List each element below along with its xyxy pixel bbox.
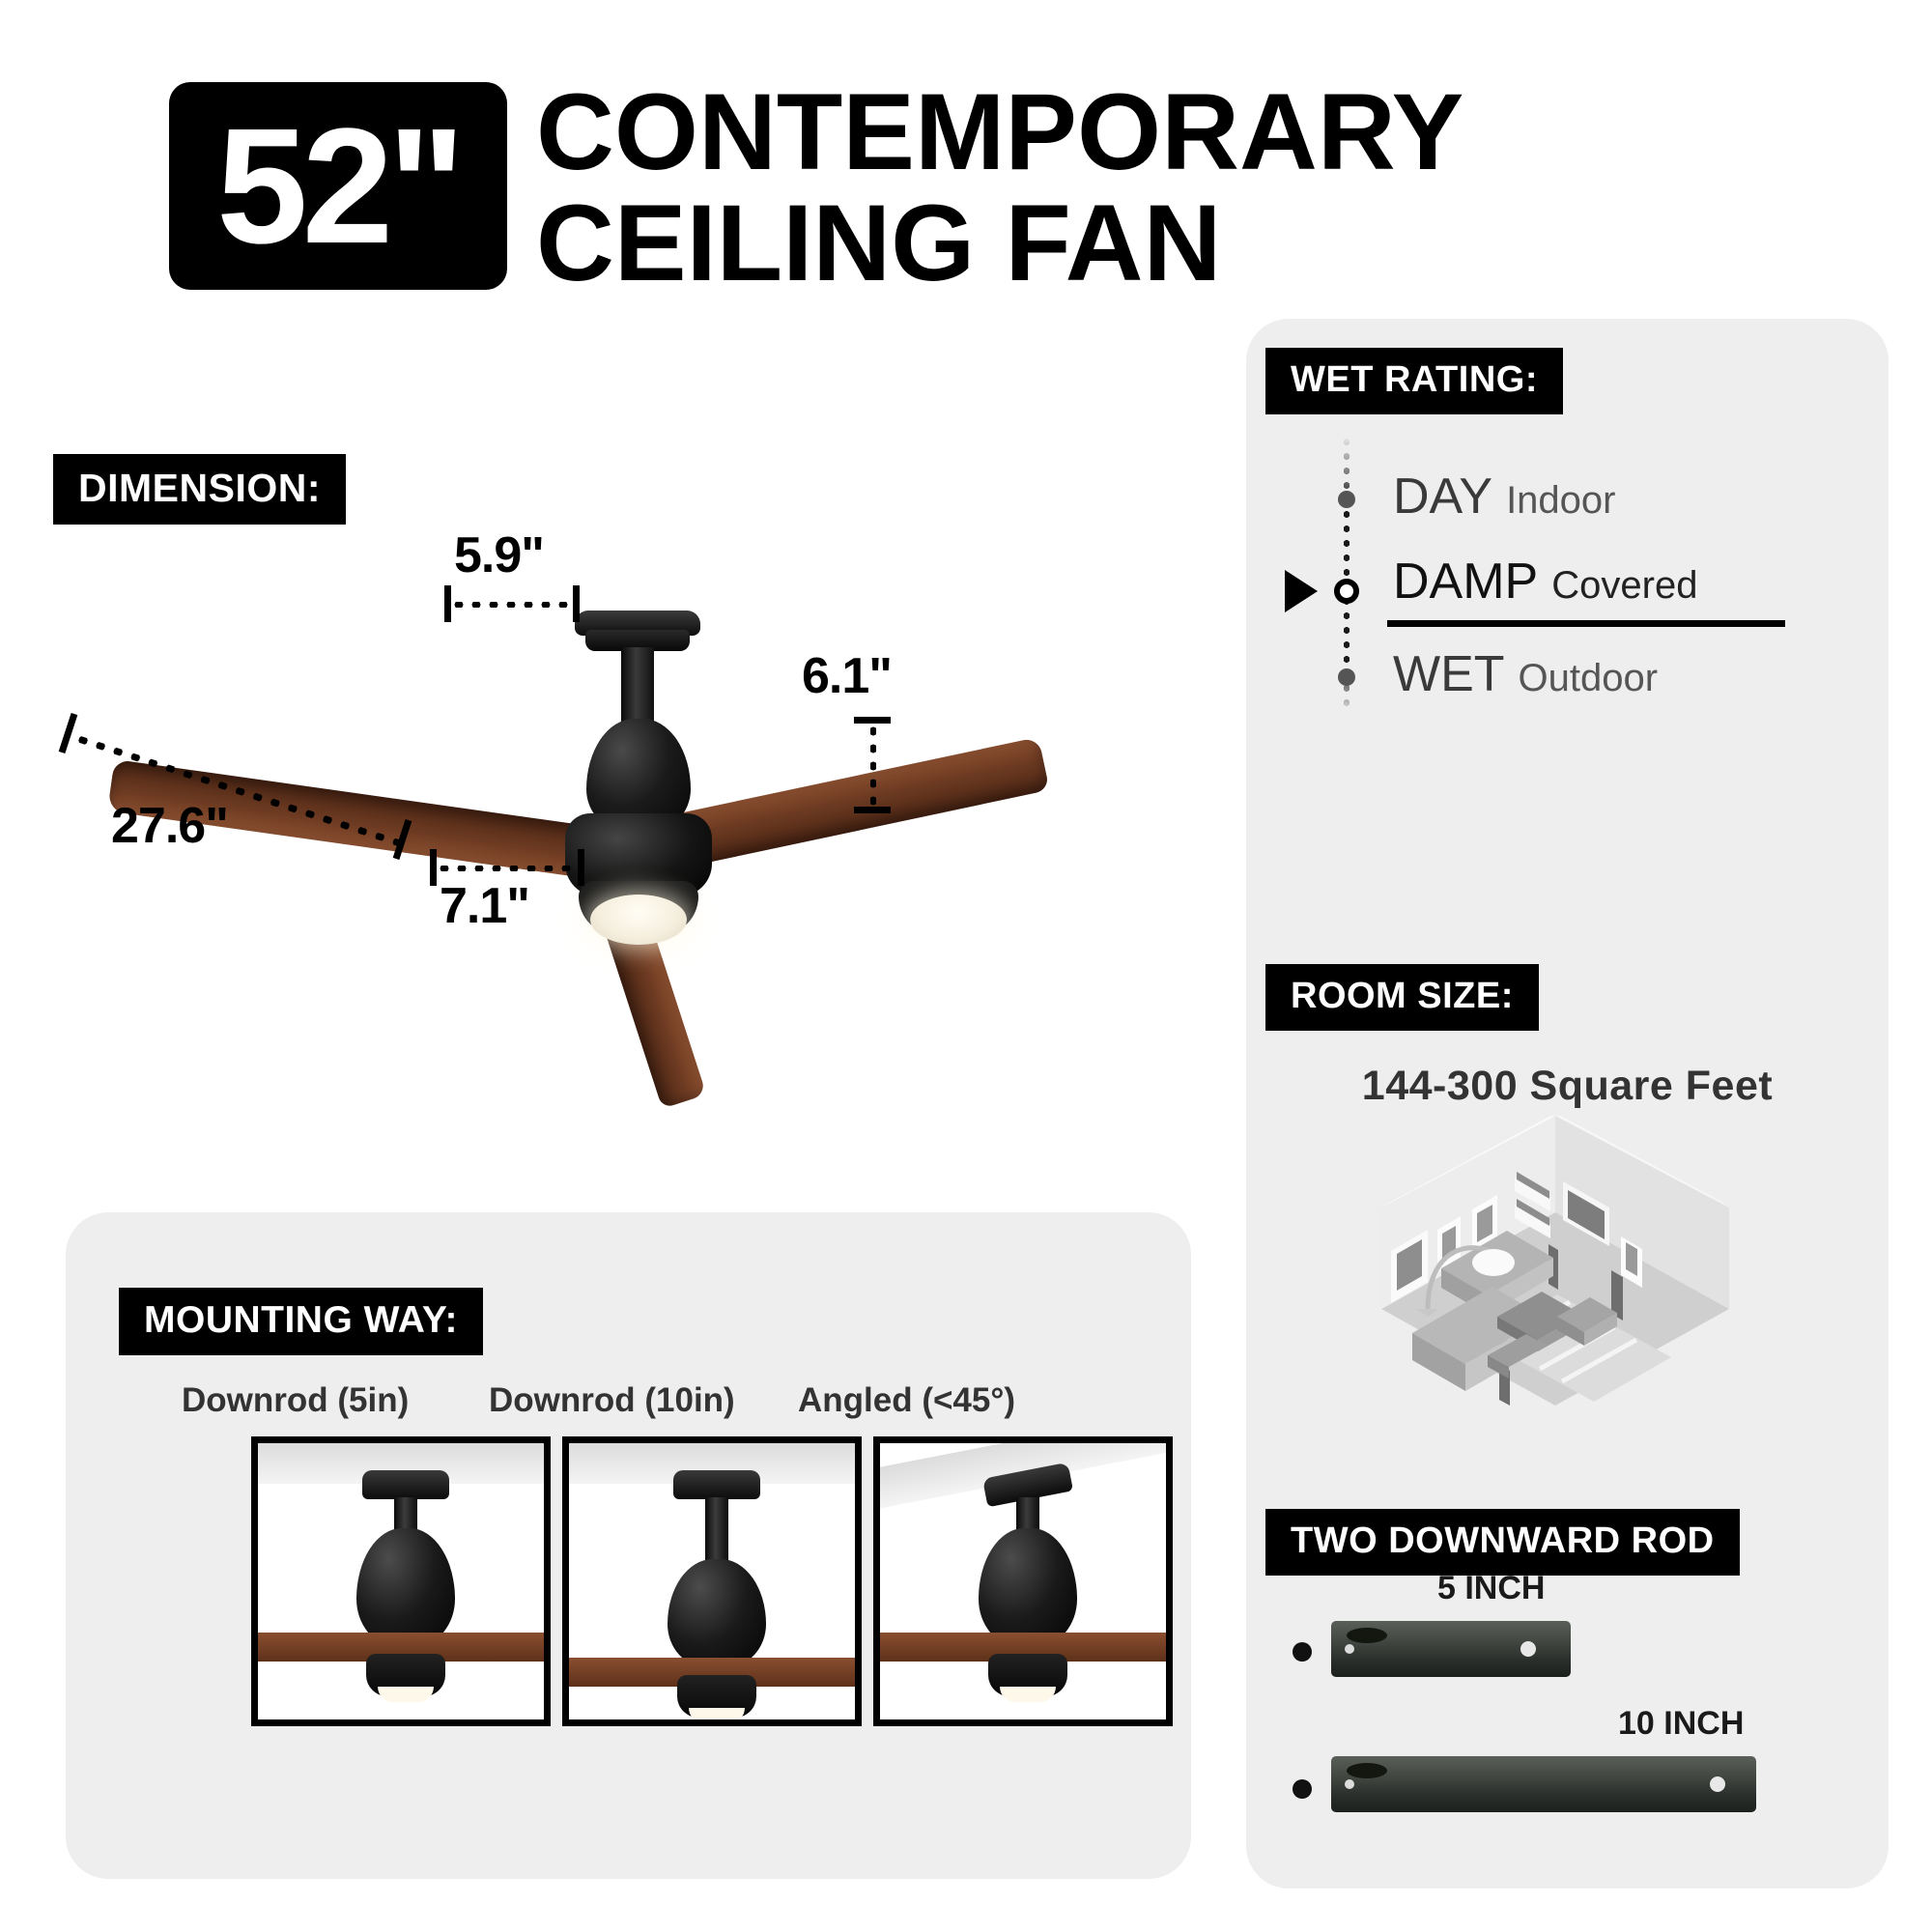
- wet-rating-marker-wet[interactable]: [1338, 668, 1355, 686]
- wet-rating-name-day: DAY: [1393, 469, 1492, 525]
- mounting-image-downrod-5in: [251, 1436, 551, 1726]
- mounting-label-downrod-10in: Downrod (10in): [489, 1381, 798, 1420]
- mounting-way-heading: MOUNTING WAY:: [119, 1288, 483, 1355]
- title-line-1: CONTEMPORARY: [536, 76, 1715, 187]
- title-line-2: CEILING FAN: [536, 187, 1715, 298]
- rod-label-10-inch: 10 INCH: [1618, 1705, 1744, 1743]
- wet-rating-scale: DAYIndoor DAMPCovered WETOutdoor: [1343, 435, 1864, 715]
- rod-bullet-10-inch: [1293, 1779, 1312, 1799]
- room-illustration: [1352, 1116, 1758, 1435]
- dimension-heading: DIMENSION:: [53, 454, 346, 525]
- rod-bullet-5-inch: [1293, 1642, 1312, 1662]
- measure-canopy-width: [444, 601, 580, 609]
- mounting-image-downrod-10in: [562, 1436, 862, 1726]
- mounting-images: [251, 1436, 1173, 1726]
- measure-blade-tip: [869, 717, 877, 813]
- wet-rating-name-damp: DAMP: [1393, 554, 1538, 610]
- wet-rating-marker-day[interactable]: [1338, 491, 1355, 508]
- wet-rating-heading: WET RATING:: [1265, 348, 1563, 414]
- wet-rating-name-wet: WET: [1393, 646, 1505, 702]
- led-light-lens: [590, 895, 687, 945]
- measure-housing-width: [430, 865, 584, 872]
- right-info-panel: WET RATING: DAYIndoor DAMPCovered WETOut…: [1246, 319, 1889, 1889]
- mounting-option-labels: Downrod (5in) Downrod (10in) Angled (<45…: [182, 1381, 1109, 1420]
- room-size-value: 144-300 Square Feet: [1246, 1063, 1889, 1110]
- dimension-label-blade-length: 27.6": [111, 797, 228, 855]
- mounting-way-panel: MOUNTING WAY: Downrod (5in) Downrod (10i…: [66, 1212, 1191, 1879]
- wet-rating-desc-damp: Covered: [1551, 564, 1697, 607]
- isometric-room-icon: [1352, 1116, 1758, 1435]
- room-size-heading: ROOM SIZE:: [1265, 964, 1539, 1031]
- rod-graphic-10-inch: [1331, 1756, 1756, 1812]
- mounting-image-angled: [873, 1436, 1173, 1726]
- dimension-section: DIMENSION: 5.9" 6.1" 27.6": [53, 454, 1212, 1092]
- rod-graphic-5-inch: [1331, 1621, 1571, 1677]
- fan-dimension-diagram: 5.9" 6.1" 27.6" 7.1": [53, 541, 1203, 1082]
- rod-label-5-inch: 5 INCH: [1437, 1570, 1545, 1607]
- wet-rating-row-day[interactable]: DAYIndoor: [1393, 468, 1615, 526]
- wet-rating-selected-arrow-icon: [1285, 570, 1318, 612]
- wet-rating-desc-day: Indoor: [1506, 479, 1615, 522]
- page-title: CONTEMPORARY CEILING FAN: [536, 76, 1715, 299]
- wet-rating-marker-damp[interactable]: [1334, 579, 1359, 604]
- wet-rating-desc-wet: Outdoor: [1519, 657, 1659, 699]
- size-badge-label: 52": [216, 104, 460, 269]
- dimension-label-canopy-width: 5.9": [454, 526, 544, 584]
- wet-rating-row-wet[interactable]: WETOutdoor: [1393, 645, 1658, 703]
- page-header: 52" CONTEMPORARY CEILING FAN: [169, 82, 1715, 290]
- mounting-label-downrod-5in: Downrod (5in): [182, 1381, 489, 1420]
- downrod: [621, 647, 654, 726]
- dimension-label-housing-width: 7.1": [440, 877, 529, 935]
- mounting-label-angled: Angled (<45°): [798, 1381, 1107, 1420]
- wet-rating-row-damp[interactable]: DAMPCovered: [1393, 553, 1697, 611]
- dimension-label-blade-tip: 6.1": [802, 647, 892, 705]
- wet-rating-selected-underline: [1387, 620, 1785, 627]
- size-badge: 52": [169, 82, 507, 290]
- downward-rod-heading: TWO DOWNWARD ROD: [1265, 1509, 1740, 1576]
